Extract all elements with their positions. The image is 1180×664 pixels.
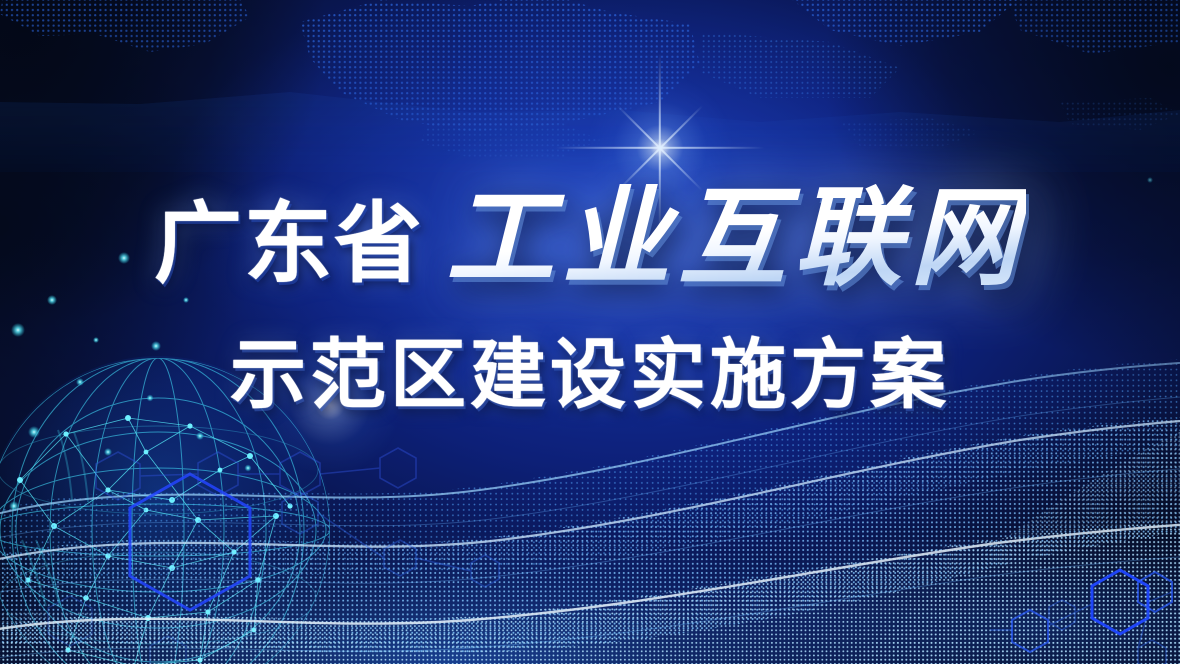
poster-banner: 广东省工业互联网 示范区建设实施方案 bbox=[0, 0, 1180, 664]
sparkle-dots-icon bbox=[0, 0, 1180, 664]
